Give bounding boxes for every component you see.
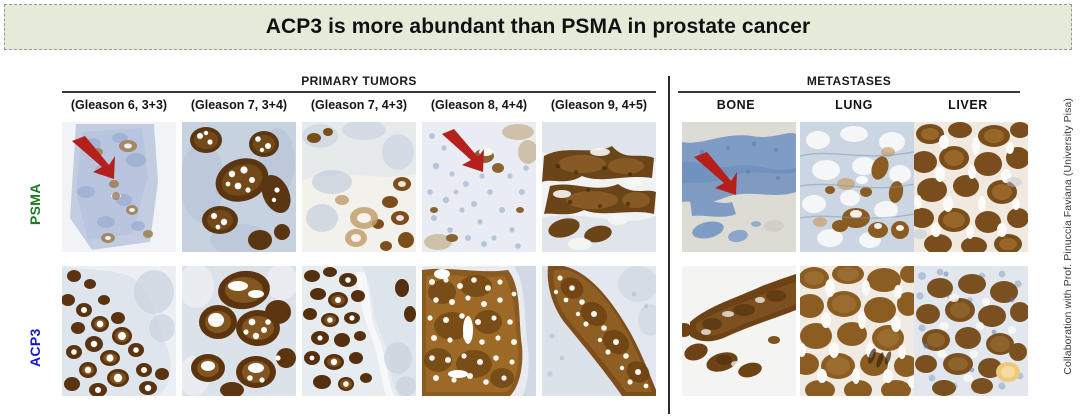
panel-psma-gleason7-4-3 [302, 122, 416, 252]
column-label-bone: BONE [682, 98, 790, 112]
panel-psma-gleason9 [542, 122, 656, 252]
page-title: ACP3 is more abundant than PSMA in prost… [266, 15, 811, 39]
micrograph-acp3-gleason8 [422, 266, 536, 396]
panel-acp3-liver [914, 266, 1028, 396]
group-rule-metastases [678, 91, 1020, 93]
micrograph-acp3-bone [682, 266, 796, 396]
figure-title-banner: ACP3 is more abundant than PSMA in prost… [4, 4, 1072, 50]
micrograph-acp3-gleason9 [542, 266, 656, 396]
panel-acp3-gleason7-4-3 [302, 266, 416, 396]
group-header-primary-tumors: PRIMARY TUMORS [62, 74, 656, 93]
column-label-gleason-6: (Gleason 6, 3+3) [62, 98, 176, 112]
micrograph-psma-lung [800, 122, 914, 252]
panel-psma-gleason6 [62, 122, 176, 252]
group-title-metastases: METASTASES [678, 74, 1020, 88]
panel-acp3-lung [800, 266, 914, 396]
column-label-gleason-9: (Gleason 9, 4+5) [542, 98, 656, 112]
micrograph-psma-liver [914, 122, 1028, 252]
micrograph-acp3-gleason7-3-4 [182, 266, 296, 396]
row-label-psma: PSMA [22, 174, 48, 234]
column-label-gleason-7-4-3: (Gleason 7, 4+3) [302, 98, 416, 112]
panel-psma-lung [800, 122, 914, 252]
micrograph-acp3-lung [800, 266, 914, 396]
row-label-acp3: ACP3 [22, 318, 48, 378]
micrograph-psma-gleason7-4-3 [302, 122, 416, 252]
panel-psma-liver [914, 122, 1028, 252]
group-header-metastases: METASTASES [678, 74, 1020, 93]
figure-body: PRIMARY TUMORS METASTASES (Gleason 6, 3+… [0, 56, 1080, 418]
column-label-gleason-7-3-4: (Gleason 7, 3+4) [182, 98, 296, 112]
panel-psma-gleason7-3-4 [182, 122, 296, 252]
credit-text: Collaboration with Prof. Pinuccia Favian… [1062, 98, 1074, 375]
micrograph-acp3-gleason7-4-3 [302, 266, 416, 396]
micrograph-psma-gleason7-3-4 [182, 122, 296, 252]
panel-acp3-gleason6 [62, 266, 176, 396]
panel-psma-bone [682, 122, 796, 252]
column-label-lung: LUNG [800, 98, 908, 112]
micrograph-psma-gleason8 [422, 122, 536, 252]
panel-acp3-gleason9 [542, 266, 656, 396]
panel-psma-gleason8 [422, 122, 536, 252]
micrograph-psma-gleason6 [62, 122, 176, 252]
group-separator-divider [668, 76, 670, 414]
micrograph-acp3-gleason6 [62, 266, 176, 396]
credit-note: Collaboration with Prof. Pinuccia Favian… [1058, 56, 1078, 416]
panel-acp3-gleason7-3-4 [182, 266, 296, 396]
micrograph-acp3-liver [914, 266, 1028, 396]
panel-acp3-gleason8 [422, 266, 536, 396]
panel-acp3-bone [682, 266, 796, 396]
micrograph-psma-gleason9 [542, 122, 656, 252]
column-label-gleason-8: (Gleason 8, 4+4) [422, 98, 536, 112]
group-title-primary-tumors: PRIMARY TUMORS [62, 74, 656, 88]
column-label-liver: LIVER [914, 98, 1022, 112]
micrograph-psma-bone [682, 122, 796, 252]
group-rule-primary-tumors [62, 91, 656, 93]
